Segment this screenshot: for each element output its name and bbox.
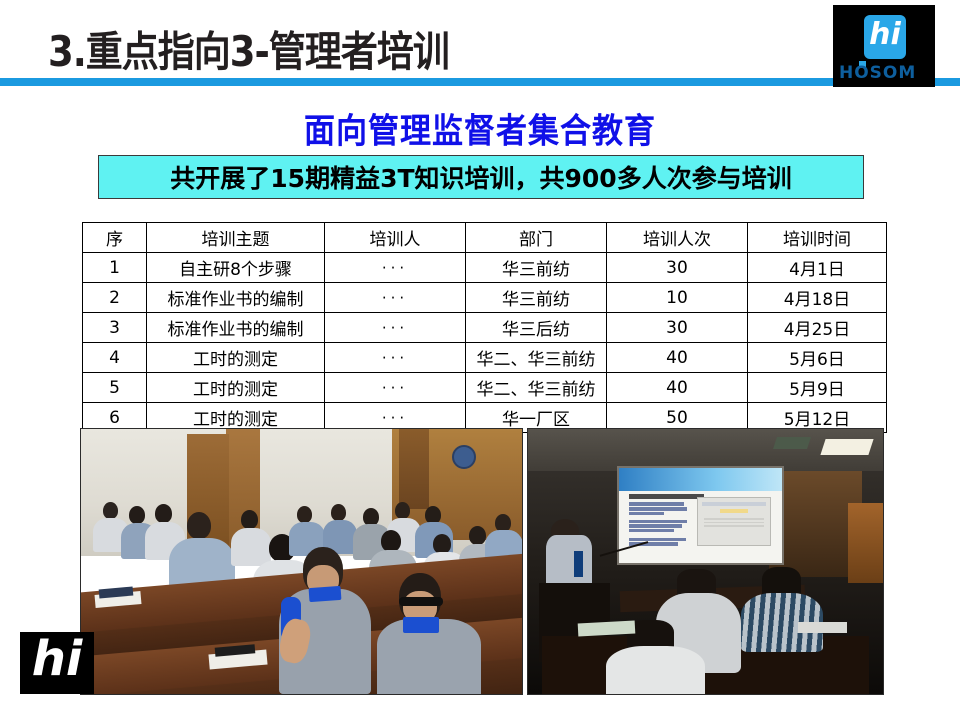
cell-topic: 自主研8个步骤: [147, 253, 325, 283]
cell-headcount: 10: [607, 283, 748, 313]
highlight-banner: 共开展了15期精益3T知识培训，共900多人次参与培训: [98, 155, 864, 199]
table-row: 5 工时的测定 ··· 华二、华三前纺 40 5月9日: [83, 373, 887, 403]
cell-headcount: 30: [607, 313, 748, 343]
table-row: 1 自主研8个步骤 ··· 华三前纺 30 4月1日: [83, 253, 887, 283]
cell-headcount: 40: [607, 373, 748, 403]
logo-hi-icon: hi: [864, 13, 906, 57]
page-title: 3.重点指向3-管理者培训: [48, 18, 449, 78]
wall-clock-icon: [452, 445, 476, 469]
training-table: 序 培训主题 培训人 部门 培训人次 培训时间 1 自主研8个步骤 ··· 华三…: [82, 222, 887, 433]
cell-dept: 华二、华三前纺: [466, 343, 607, 373]
cell-trainer: ···: [325, 343, 466, 373]
cell-topic: 标准作业书的编制: [147, 283, 325, 313]
cell-topic: 工时的测定: [147, 373, 325, 403]
column-header-date: 培训时间: [748, 223, 887, 253]
cell-dept: 华三后纺: [466, 313, 607, 343]
column-header-trainer: 培训人: [325, 223, 466, 253]
cell-trainer: ···: [325, 283, 466, 313]
ceiling-lamp-icon: [820, 439, 873, 455]
cell-date: 5月9日: [748, 373, 887, 403]
column-header-topic: 培训主题: [147, 223, 325, 253]
attendee-body: [606, 646, 705, 695]
cell-date: 4月18日: [748, 283, 887, 313]
footer-logo: hi: [20, 632, 94, 694]
column-header-headcount: 培训人次: [607, 223, 748, 253]
wall-accent-panel: [848, 503, 884, 583]
table-row: 2 标准作业书的编制 ··· 华三前纺 10 4月18日: [83, 283, 887, 313]
cell-index: 2: [83, 283, 147, 313]
logo-tile-icon: hi: [864, 15, 906, 59]
logo-wordmark: HOSOM: [839, 63, 916, 83]
desk-papers: [798, 622, 848, 633]
cell-index: 3: [83, 313, 147, 343]
slide-embedded-image: [697, 497, 771, 547]
cell-index: 5: [83, 373, 147, 403]
presenter-lanyard: [574, 551, 583, 578]
cell-index: 4: [83, 343, 147, 373]
cell-headcount: 40: [607, 343, 748, 373]
highlight-banner-text: 共开展了15期精益3T知识培训，共900多人次参与培训: [170, 159, 791, 195]
footer-logo-hi-icon: hi: [20, 632, 94, 690]
cell-dept: 华二、华三前纺: [466, 373, 607, 403]
cell-date: 4月25日: [748, 313, 887, 343]
presenter-projector-photo: [527, 428, 884, 695]
cell-topic: 工时的测定: [147, 343, 325, 373]
ceiling-vent: [773, 437, 811, 449]
table-header-row: 序 培训主题 培训人 部门 培训人次 培训时间: [83, 223, 887, 253]
cell-date: 5月6日: [748, 343, 887, 373]
slide-heading: [629, 494, 704, 499]
cell-trainer: ···: [325, 373, 466, 403]
slide-subtitle: 面向管理监督者集合教育: [0, 103, 960, 153]
slide-root: 3.重点指向3-管理者培训 hi HOSOM 面向管理监督者集合教育 共开展了1…: [0, 0, 960, 720]
table-row: 4 工时的测定 ··· 华二、华三前纺 40 5月6日: [83, 343, 887, 373]
cell-dept: 华三前纺: [466, 253, 607, 283]
cell-trainer: ···: [325, 253, 466, 283]
photo-scene: [81, 429, 522, 694]
slide-header-band: [619, 468, 782, 491]
cell-index: 1: [83, 253, 147, 283]
column-header-index: 序: [83, 223, 147, 253]
title-underline-bar: [0, 78, 960, 86]
cell-trainer: ···: [325, 313, 466, 343]
cell-headcount: 30: [607, 253, 748, 283]
company-logo: hi HOSOM: [833, 5, 935, 87]
cell-dept: 华三前纺: [466, 283, 607, 313]
photo-scene: [528, 429, 883, 694]
column-header-dept: 部门: [466, 223, 607, 253]
classroom-audience-photo: [80, 428, 523, 695]
table-row: 3 标准作业书的编制 ··· 华三后纺 30 4月25日: [83, 313, 887, 343]
wall-column: [399, 429, 429, 509]
projector-screen: [617, 466, 784, 565]
cell-topic: 标准作业书的编制: [147, 313, 325, 343]
cell-date: 4月1日: [748, 253, 887, 283]
